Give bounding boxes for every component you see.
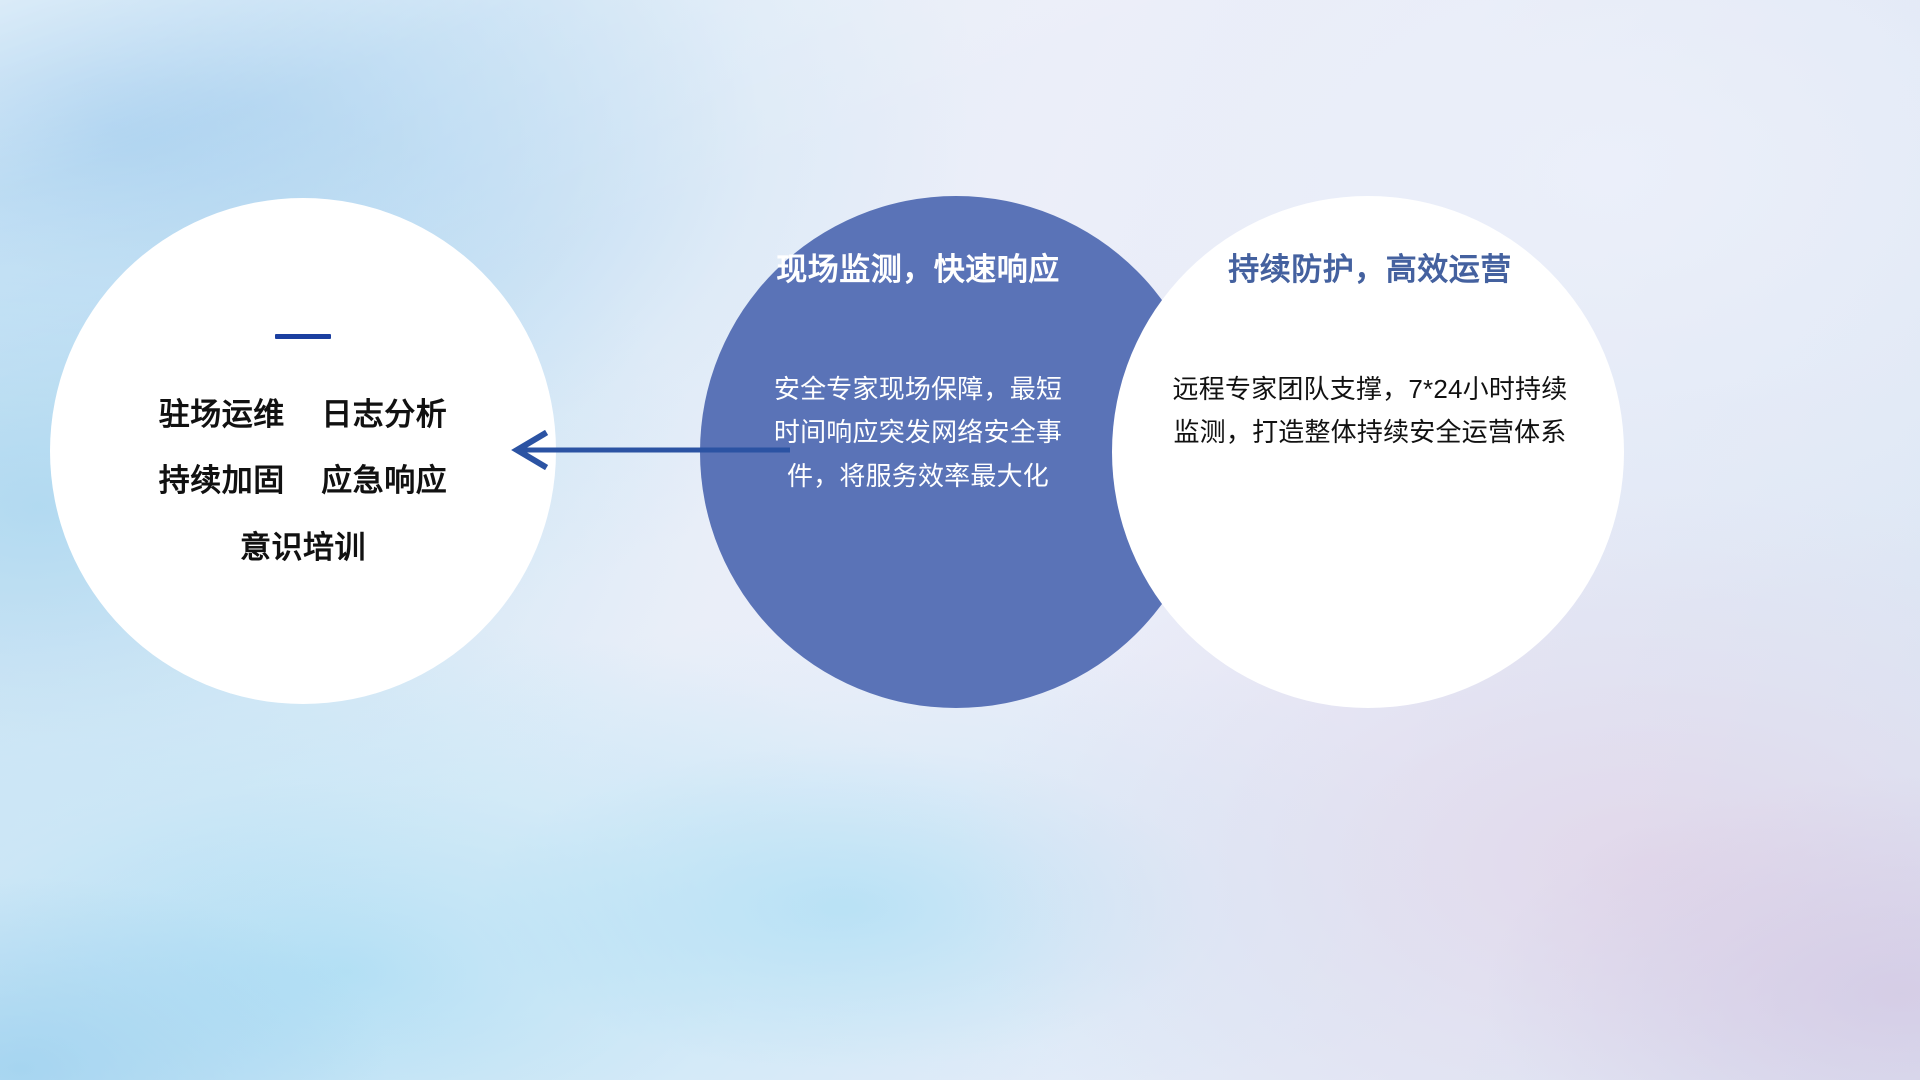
continuous-protection-content: 持续防护，高效运营 远程专家团队支撑，7*24小时持续监测，打造整体持续安全运营… <box>1146 250 1594 455</box>
capability-line-1: 驻场运维 日志分析 <box>159 395 447 435</box>
slide-canvas: 驻场运维 日志分析 持续加固 应急响应 意识培训 现场监测，快速响应 安全专家现… <box>0 0 1920 1080</box>
onsite-monitoring-content: 现场监测，快速响应 安全专家现场保障，最短时间响应突发网络安全事件，将服务效率最… <box>718 250 1118 498</box>
onsite-monitoring-title: 现场监测，快速响应 <box>718 250 1118 290</box>
continuous-protection-body: 远程专家团队支撑，7*24小时持续监测，打造整体持续安全运营体系 <box>1170 368 1570 454</box>
title-divider-rule <box>275 334 331 339</box>
onsite-monitoring-body: 安全专家现场保障，最短时间响应突发网络安全事件，将服务效率最大化 <box>763 368 1073 497</box>
capability-line-3: 意识培训 <box>240 528 366 568</box>
continuous-protection-title: 持续防护，高效运营 <box>1146 250 1594 290</box>
capability-circle-content: 驻场运维 日志分析 持续加固 应急响应 意识培训 <box>50 198 556 704</box>
capability-line-2: 持续加固 应急响应 <box>159 461 447 501</box>
